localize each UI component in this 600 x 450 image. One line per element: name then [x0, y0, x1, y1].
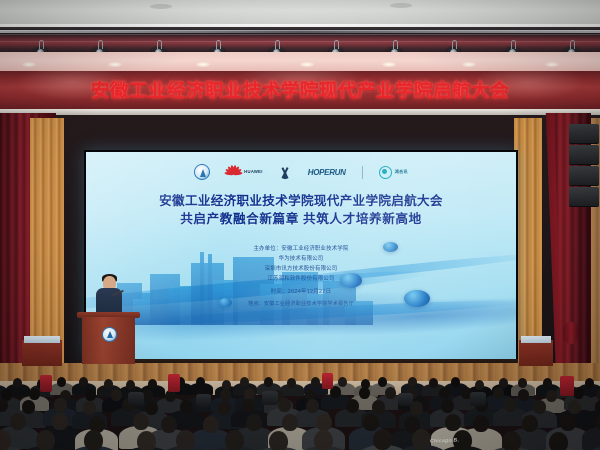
auditorium-seat	[560, 376, 574, 396]
led-screen-content: HUAWEI HOPERUN 鸿合讯 安徽工业经济职业技术学院现代产业学院启航大…	[86, 152, 516, 361]
recessed-downlight-icon	[462, 62, 476, 67]
partner-ring-logo: 鸿合讯	[379, 166, 408, 179]
audience-member-head	[196, 377, 205, 387]
audience-member-head	[385, 387, 396, 399]
audience-member-head	[533, 400, 546, 414]
huawei-logo: HUAWEI	[226, 165, 263, 179]
logo-divider	[362, 166, 363, 179]
curtain-tieback	[563, 322, 579, 344]
audience: Chicago B.	[0, 372, 600, 450]
stage-side-table-left	[22, 340, 62, 366]
audience-member-head	[203, 416, 219, 433]
audience-member-head	[52, 413, 68, 430]
hall-banner: 安徽工业经济职业技术学院现代产业学院启航大会	[0, 71, 600, 109]
audience-member-head	[126, 380, 135, 390]
audience-member-head	[180, 400, 193, 414]
stage-side-table-right	[519, 340, 553, 366]
audience-member-head	[111, 389, 122, 401]
audience-member-head	[83, 401, 96, 415]
audience-member-head	[346, 399, 359, 413]
audience-member-head	[54, 398, 67, 412]
auditorium-seat-back	[128, 392, 144, 406]
audience-member-head	[518, 378, 527, 388]
ceiling	[0, 0, 600, 26]
auditorium-photo: 安徽工业经济职业技术学院现代产业学院启航大会	[0, 0, 600, 450]
audience-member-head	[585, 378, 594, 388]
audience-member-head	[246, 414, 262, 431]
organizer-line: 江苏润和软件股份有限公司	[86, 274, 516, 284]
auditorium-seat	[168, 374, 180, 392]
recessed-downlight-icon	[108, 62, 122, 67]
audience-member-head	[429, 378, 438, 388]
audience-member-head	[560, 414, 576, 431]
audience-member-head	[85, 389, 96, 401]
audience-member-head	[522, 415, 538, 432]
audience-member-head	[264, 377, 273, 387]
audience-member-head	[10, 413, 26, 430]
screen-date-line: 时间：2024年12月27日	[86, 287, 516, 295]
audience-member-head	[502, 431, 521, 450]
audience-member-head	[13, 378, 22, 388]
school-emblem-logo	[194, 164, 210, 180]
auditorium-seat-back	[262, 391, 278, 405]
audience-member-head	[412, 429, 431, 450]
audience-member-head	[549, 432, 568, 450]
audience-member-head	[36, 430, 55, 450]
ceiling-vent-icon	[150, 4, 172, 9]
hoperun-logo: HOPERUN	[308, 168, 346, 177]
audience-member-head	[451, 377, 460, 387]
ceiling-rail	[0, 30, 600, 33]
audience-member-head	[445, 414, 461, 431]
audience-member-head	[133, 413, 149, 430]
screen-organizer-block: 主办单位：安徽工业经济职业技术学院 华为技术有限公司 深圳市讯方技术股份有限公司…	[86, 244, 516, 284]
ceiling-vent-icon	[390, 3, 412, 8]
audience-member-head	[568, 400, 581, 414]
stage-papers-left	[24, 336, 60, 343]
partner-logo-label: 鸿合讯	[395, 170, 408, 174]
auditorium-seat	[40, 375, 52, 392]
podium	[80, 312, 137, 364]
auditorium-seat	[322, 373, 333, 389]
screen-place-line: 地点：安徽工业经济职业技术学院学术报告厅	[86, 300, 516, 307]
auditorium-seat-back	[398, 393, 413, 406]
recessed-downlight-icon	[22, 62, 36, 67]
audience-member-head	[240, 377, 249, 387]
audience-member-head	[373, 429, 392, 450]
audience-member-head	[504, 398, 517, 412]
audience-member-head	[22, 400, 35, 414]
audience-member-head	[439, 387, 450, 399]
auditorium-seat-back	[196, 394, 211, 407]
audience-member-head	[145, 401, 158, 415]
audience-member-head	[363, 414, 379, 431]
audience-member-head	[372, 400, 385, 414]
audience-member-head	[176, 430, 195, 450]
audience-member-head	[269, 431, 288, 450]
organizer-line: 深圳市讯方技术股份有限公司	[86, 264, 516, 274]
audience-member-head	[543, 378, 552, 388]
screen-title-line2: 共启产教融合新篇章 共筑人才培养新高地	[86, 210, 516, 228]
audience-member-head	[218, 401, 231, 415]
podium-body	[82, 317, 135, 364]
audience-member-head	[242, 399, 255, 413]
school-emblem-icon	[194, 164, 210, 180]
audience-member-head	[314, 430, 333, 450]
audience-member-head	[287, 378, 296, 388]
auditorium-seat-back	[470, 392, 486, 406]
audience-member-head	[225, 430, 244, 450]
xunfang-logo	[279, 165, 292, 179]
audience-member-head	[596, 388, 600, 400]
audience-member-head	[161, 416, 177, 433]
audience-member-head	[546, 390, 557, 402]
recessed-downlight-icon	[196, 62, 210, 67]
screen-title-block: 安徽工业经济职业技术学院现代产业学院启航大会 共启产教融合新篇章 共筑人才培养新…	[86, 192, 516, 229]
xunfang-x-icon	[279, 165, 292, 179]
audience-member-head	[316, 414, 332, 431]
audience-member-head	[137, 431, 156, 450]
audience-member-head	[220, 389, 231, 401]
audience-member-head	[473, 415, 489, 432]
audience-member-head	[57, 377, 66, 387]
audience-member-head	[148, 379, 157, 389]
audience-member-head	[475, 380, 484, 390]
audience-member-head	[518, 389, 529, 401]
audience-member-head	[311, 377, 320, 387]
screen-title-line1: 安徽工业经济职业技术学院现代产业学院启航大会	[86, 192, 516, 210]
audience-member-head	[338, 377, 347, 387]
huawei-logo-label: HUAWEI	[244, 170, 263, 174]
audience-member-head	[595, 400, 600, 414]
audience-member-head	[104, 379, 113, 389]
recessed-downlight-icon	[300, 62, 314, 67]
line-array-speaker	[569, 124, 599, 214]
stage-papers-right	[521, 336, 551, 343]
audience-member-head	[79, 377, 88, 387]
audience-member-head	[378, 377, 387, 387]
partner-ring-icon	[379, 166, 392, 179]
led-screen: HUAWEI HOPERUN 鸿合讯 安徽工业经济职业技术学院现代产业学院启航大…	[84, 150, 518, 363]
podium-school-emblem-icon	[102, 327, 117, 342]
hoperun-logo-label: HOPERUN	[308, 168, 346, 177]
audience-member-head	[408, 377, 417, 387]
hall-banner-text: 安徽工业经济职业技术学院现代产业学院启航大会	[0, 71, 600, 109]
sponsor-logo-row: HUAWEI HOPERUN 鸿合讯	[86, 159, 516, 185]
ceiling-soffit	[0, 52, 600, 71]
audience-member-head	[29, 388, 40, 400]
audience-member-head	[282, 414, 298, 431]
organizer-line: 华为技术有限公司	[86, 254, 516, 264]
audience-member-head	[306, 399, 319, 413]
huawei-flower-icon	[226, 165, 241, 179]
audience-member-head	[84, 430, 103, 450]
organizer-line: 主办单位：安徽工业经济职业技术学院	[86, 244, 516, 254]
audience-member-head	[493, 387, 504, 399]
audience-member-head	[573, 387, 584, 399]
recessed-downlight-icon	[382, 62, 396, 67]
jacket-text: Chicago B.	[430, 437, 459, 444]
audience-member-head	[441, 399, 454, 413]
audience-member-head	[359, 387, 370, 399]
audience-member-head	[278, 398, 291, 412]
recessed-downlight-icon	[545, 62, 559, 67]
